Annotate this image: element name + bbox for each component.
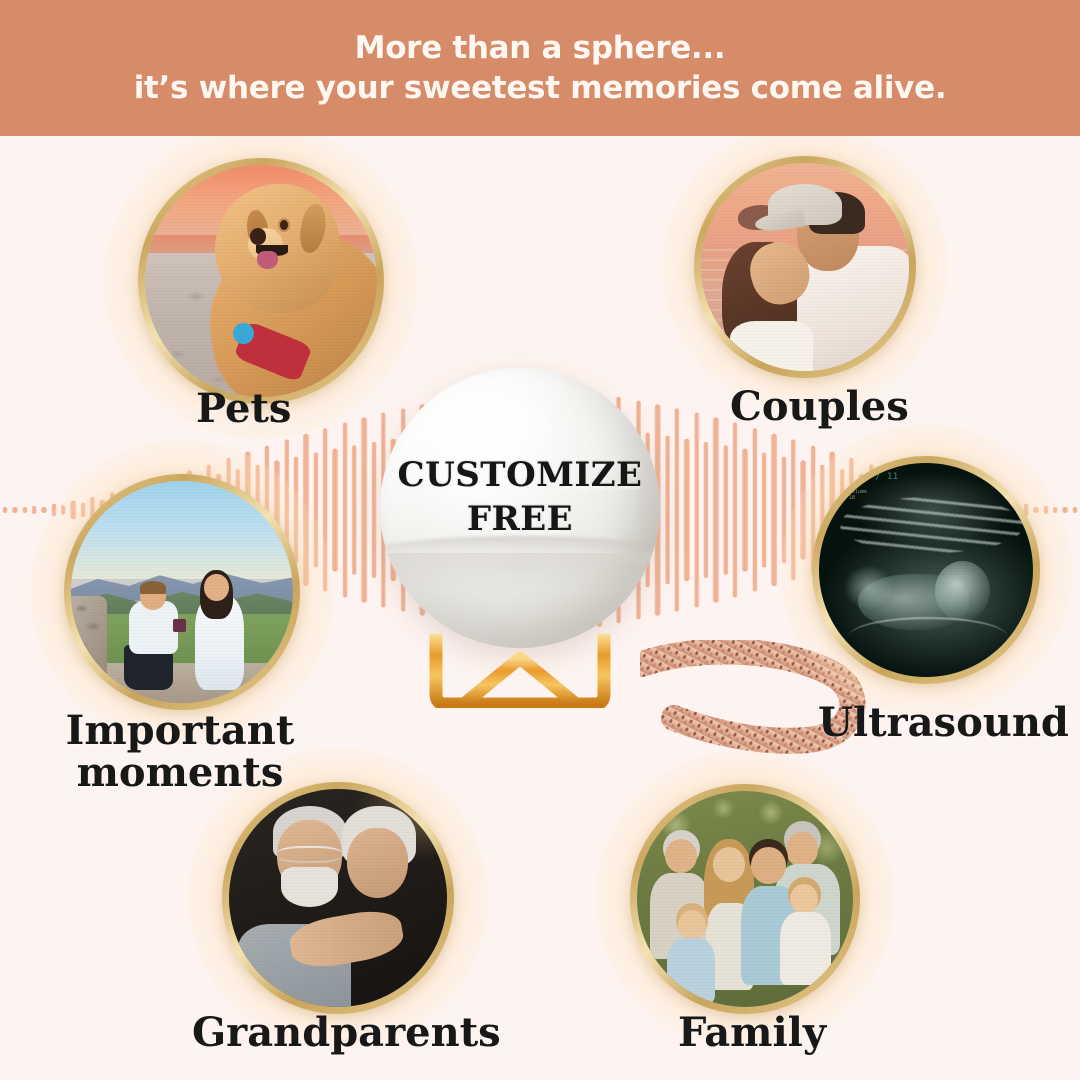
category-card-ultrasound[interactable]: 8.5cm / 11 Volume 18 <box>812 456 1040 684</box>
sphere-product: CUSTOMIZE FREE <box>370 368 670 708</box>
category-label-family: Family <box>678 1012 826 1054</box>
sphere-text-line-1: CUSTOMIZE <box>380 454 660 498</box>
category-card-family[interactable] <box>630 784 860 1014</box>
category-card-pets[interactable] <box>138 158 384 404</box>
ultrasound-overlay-text-secondary: Volume 18 <box>849 489 867 502</box>
category-label-couples: Couples <box>730 386 909 428</box>
photo-ring-border <box>138 158 384 404</box>
category-label-important-moments: Important moments <box>50 710 310 795</box>
photo-ring-border <box>694 156 916 378</box>
photo-ring-border <box>630 784 860 1014</box>
photo-important-moments <box>71 481 293 703</box>
category-label-ultrasound: Ultrasound <box>818 702 1069 744</box>
photo-grandparents <box>229 789 447 1007</box>
photo-ring-border <box>64 474 300 710</box>
photo-family <box>637 791 853 1007</box>
sphere-text-line-2: FREE <box>380 498 660 542</box>
category-card-grandparents[interactable] <box>222 782 454 1014</box>
category-card-important-moments[interactable] <box>64 474 300 710</box>
photo-ring-border <box>222 782 454 1014</box>
sphere-globe: CUSTOMIZE FREE <box>380 368 660 648</box>
category-label-grandparents: Grandparents <box>192 1012 501 1054</box>
sphere-engraved-text: CUSTOMIZE FREE <box>380 454 660 541</box>
photo-ultrasound: 8.5cm / 11 Volume 18 <box>819 463 1033 677</box>
ultrasound-overlay-text: 8.5cm / 11 <box>840 472 1011 482</box>
sphere-seam <box>380 536 660 570</box>
photo-ring-border: 8.5cm / 11 Volume 18 <box>812 456 1040 684</box>
header-banner: More than a sphere... it’s where your sw… <box>0 0 1080 136</box>
gold-stand <box>420 634 620 708</box>
photo-pets <box>145 165 377 397</box>
category-label-pets: Pets <box>196 388 291 430</box>
header-line-1: More than a sphere... <box>355 30 726 66</box>
header-line-2: it’s where your sweetest memories come a… <box>134 70 947 106</box>
photo-couples <box>701 163 909 371</box>
promo-graphic: More than a sphere... it’s where your sw… <box>0 0 1080 1080</box>
category-card-couples[interactable] <box>694 156 916 378</box>
